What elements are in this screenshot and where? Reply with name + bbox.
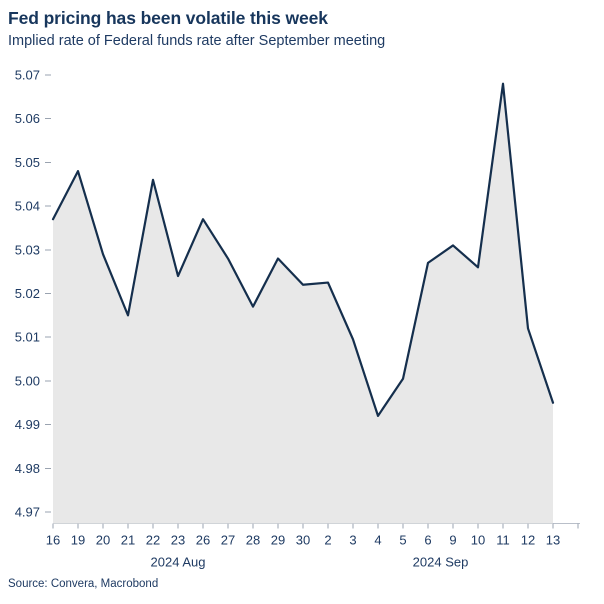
x-axis-tick-label: 5 xyxy=(399,533,406,548)
y-axis-tick-label: 4.97 xyxy=(15,505,40,520)
y-axis-tick-label: 4.99 xyxy=(15,417,40,432)
x-axis-tick-label: 10 xyxy=(471,533,485,548)
x-axis-tick-label: 12 xyxy=(521,533,535,548)
x-axis-tick-label: 26 xyxy=(196,533,210,548)
series-group xyxy=(53,84,553,524)
y-axis-group: 5.075.065.055.045.035.025.015.004.994.98… xyxy=(15,68,51,520)
x-axis-tick-label: 22 xyxy=(146,533,160,548)
x-axis-group-label: 2024 Aug xyxy=(151,555,206,570)
y-axis-tick-label: 5.00 xyxy=(15,373,40,388)
y-axis-tick-label: 5.04 xyxy=(15,199,40,214)
x-axis-tick-label: 4 xyxy=(374,533,381,548)
y-axis-tick-label: 5.05 xyxy=(15,155,40,170)
x-axis-group: 161920212223262728293023456910111213 202… xyxy=(46,524,580,570)
chart-plot-area: 5.075.065.055.045.035.025.015.004.994.98… xyxy=(0,0,604,604)
x-axis-tick-label: 28 xyxy=(246,533,260,548)
x-axis-tick-label: 21 xyxy=(121,533,135,548)
y-axis-tick-label: 5.01 xyxy=(15,330,40,345)
x-axis-tick-label: 16 xyxy=(46,533,60,548)
series-area-fill xyxy=(53,84,553,524)
x-axis-group-label: 2024 Sep xyxy=(413,555,469,570)
y-axis-tick-label: 5.07 xyxy=(15,68,40,83)
x-axis-tick-label: 27 xyxy=(221,533,235,548)
area-chart: 5.075.065.055.045.035.025.015.004.994.98… xyxy=(0,0,604,604)
x-axis-tick-label: 19 xyxy=(71,533,85,548)
x-axis-tick-label: 11 xyxy=(496,533,510,548)
y-axis-tick-label: 5.02 xyxy=(15,286,40,301)
x-axis-tick-label: 2 xyxy=(324,533,331,548)
x-axis-tick-label: 23 xyxy=(171,533,185,548)
x-axis-tick-label: 13 xyxy=(546,533,560,548)
x-axis-tick-label: 9 xyxy=(449,533,456,548)
source-note: Source: Convera, Macrobond xyxy=(8,578,158,590)
chart-page: Fed pricing has been volatile this week … xyxy=(0,0,604,604)
x-axis-tick-label: 20 xyxy=(96,533,110,548)
x-axis-tick-label: 29 xyxy=(271,533,285,548)
x-axis-tick-label: 6 xyxy=(424,533,431,548)
y-axis-tick-label: 5.03 xyxy=(15,242,40,257)
y-axis-tick-label: 5.06 xyxy=(15,111,40,126)
x-axis-tick-label: 3 xyxy=(349,533,356,548)
x-axis-tick-label: 30 xyxy=(296,533,310,548)
y-axis-tick-label: 4.98 xyxy=(15,461,40,476)
